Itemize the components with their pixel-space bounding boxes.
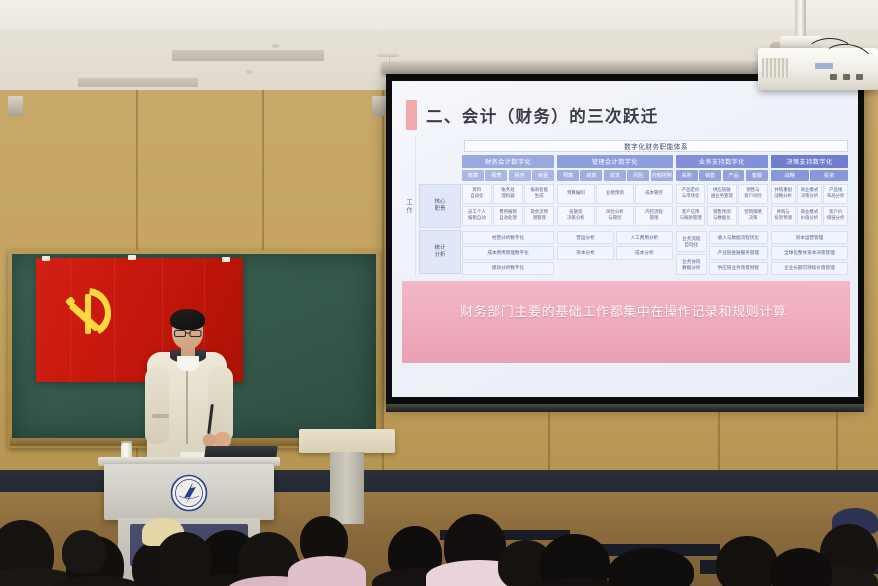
diagram-chip: 预算 [557,170,579,181]
diagram-chip: 成本 [604,170,626,181]
diagram-cell: 商业模式决策分析 [797,184,822,204]
diagram-wide-cell: 经营分析数字化 [462,231,554,244]
diagram-cell: 内控流程管理 [635,206,673,226]
diagram-cell: 员工个人报税自动 [462,206,492,226]
ceiling-fixture [246,70,253,74]
diagram-row-label-core: 核心职责 [419,184,461,228]
diagram-wide-cell: 资本分析 [557,246,614,259]
diagram-wide-cell: 人工费用分析 [616,231,673,244]
diagram-header-row: 财务会计数字化 管理会计数字化 业务支持数字化 决策支持数字化 [462,155,848,168]
diagram-wide-cell: 产业链金融服务管理 [709,246,768,259]
ceiling [0,0,878,32]
title-accent-bar [406,100,417,130]
diagram-cell: 成本管控 [635,184,673,204]
flag-clip [222,257,230,262]
diagram-cell: 销售预测与数据化 [707,206,737,226]
diagram-cell: 客户价值链分析 [823,206,848,226]
diagram-supertitle: 数字化财务职能体系 [464,140,848,152]
diagram-columns: 核心职责 统计分析 财务会计数字化 管理会计数字化 业务支持数字化 决策支持数字… [418,155,848,275]
diagram-col-header: 财务会计数字化 [462,155,554,168]
diagram-chip: 产品 [723,170,745,181]
audience-head [156,532,212,586]
diagram-wide-cell: 供应链业务场景财管 [709,262,768,275]
diagram-cell: 产品定价与市场化 [676,184,706,204]
projector-mount-pipe [795,0,806,38]
presenter-zipper [186,366,188,444]
diagram-chip: 风险 [627,170,649,181]
diagram-band-analysis: 经营分析数字化 成本费用管理数字化 绩效分析数字化 营运分析 人工费用分析 [462,231,848,275]
diagram-chip: 资金 [532,170,554,181]
diagram-grid: 财务会计数字化 管理会计数字化 业务支持数字化 决策支持数字化 核算 报表 [462,155,848,275]
wall-speaker [372,96,387,116]
diagram-row-labels: 核心职责 统计分析 [418,155,462,275]
diagram-chip: 投资 [810,170,848,181]
diagram-chip-row: 核算 报表 税务 资金 预算 绩效 成本 风险 [462,170,848,181]
diagram-cell: 产品线布局分析 [823,184,848,204]
diagram-cell: 并购与投资预测 [771,206,796,226]
screen-bottom-bar [386,404,864,412]
ceiling-hanger-plate [377,52,399,57]
diagram-wide-cell: 收入与数据流程优化 [709,231,768,244]
diagram-cell: 费用报销自动处理 [493,206,523,226]
diagram-cell: 风险分析与管控 [596,206,634,226]
lecture-hall-photo: 二、会计（财务）的三次跃迁 工作 数字化财务职能体系 核心职责 统计分析 [0,0,878,586]
diagram-cell: 商业模式价值分析 [797,206,822,226]
diagram-cell: 营销策略决策 [738,206,768,226]
diagram-col-header: 决策支持数字化 [771,155,848,168]
diagram-cell: 销售与客户风险 [738,184,768,204]
diagram-col-header: 管理会计数字化 [557,155,673,168]
presenter-hair [170,309,205,330]
projector-vent [762,58,788,78]
presenter-pocket [152,414,169,418]
diagram-wide-cell: 成本费用管理数字化 [462,246,554,259]
ceiling-vent [78,78,198,87]
diagram-chip: 税务 [509,170,531,181]
diagram-cell: 客户信用与账款管理 [676,206,706,226]
audience-head [62,530,106,574]
diagram-cell: 投融资决策分析 [557,206,595,226]
diagram-body: 数字化财务职能体系 核心职责 统计分析 财务会计数字化 管理会计数字化 [416,137,850,277]
ceiling-vent [172,50,324,61]
diagram-cell: 业绩预测 [596,184,634,204]
diagram-wide-cell: 绩效分析数字化 [462,262,554,275]
diagram-col-header: 业务支持数字化 [676,155,768,168]
diagram-cell: 账务处理机器 [493,184,523,204]
hammer-and-sickle-icon [60,282,120,340]
diagram-cell: 现金流预测管理 [524,206,554,226]
presenter-left-arm [145,366,169,444]
diagram-chip: 内部控制 [651,170,673,181]
diagram-cell: 资料自动化 [462,184,492,204]
diagram-cell: 报表智能生成 [524,184,554,204]
flag-clip [128,255,136,260]
slide-callout: 财务部门主要的基础工作都集中在操作记录和规则计算 [402,281,850,363]
audience-shoulders [288,556,366,586]
slide-title-group: 二、会计（财务）的三次跃迁 [406,100,659,130]
diagram-wide-cell: 业务协同数据分析 [676,254,707,275]
diagram-chip: 核算 [462,170,484,181]
diagram-chip: 销售 [699,170,721,181]
slide-canvas: 二、会计（财务）的三次跃迁 工作 数字化财务职能体系 核心职责 统计分析 [392,81,858,397]
diagram-chip: 绩效 [580,170,602,181]
presenter-shirt [177,356,199,371]
diagram-wide-cell: 营运分析 [557,231,614,244]
wall-speaker [8,96,23,116]
university-emblem [170,474,208,512]
diagram-wide-cell: 企业长期可持续价值管理 [771,262,848,275]
slide-callout-text: 财务部门主要的基础工作都集中在操作记录和规则计算 [460,303,820,323]
audience-head [716,536,778,586]
diagram-band-core: 资料自动化 账务处理机器 报表智能生成 员工个人报税自动 费用报销自动处理 现金… [462,184,848,226]
projection-screen: 二、会计（财务）的三次跃迁 工作 数字化财务职能体系 核心职责 统计分析 [386,74,864,404]
diagram-cell: 并购重组战略分析 [771,184,796,204]
diagram-wide-cell: 成本分析 [616,246,673,259]
diagram-cell: 预算编制 [557,184,595,204]
diagram-chip: 采购 [676,170,698,181]
diagram-cell: 供应链融通业务管理 [707,184,737,204]
diagram-wide-cell: 全球化整体资本决策管理 [771,246,848,259]
side-table-leg [330,452,364,524]
ceiling-fixture [272,44,279,48]
flag-clip [42,256,50,261]
slide-title: 二、会计（财务）的三次跃迁 [426,103,659,127]
glasses-icon [174,330,202,337]
diagram-chip: 报表 [485,170,507,181]
diagram-chip: 客服 [746,170,768,181]
side-table [299,429,395,453]
diagram-chip: 战略 [771,170,809,181]
slide-diagram: 工作 数字化财务职能体系 核心职责 统计分析 财务会计数字化 [402,137,850,277]
diagram-wide-cell: 业务流程自动化 [676,231,707,252]
diagram-side-label: 工作 [402,137,416,277]
diagram-wide-cell: 资本运营管理 [771,231,848,244]
diagram-row-label-analysis: 统计分析 [419,230,461,274]
